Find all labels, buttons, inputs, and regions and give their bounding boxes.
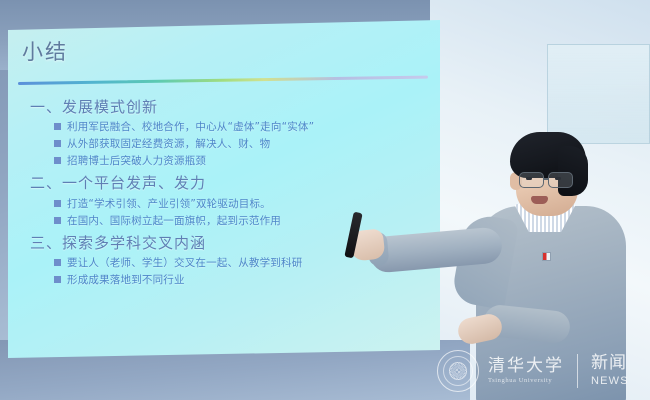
university-name-cn: 清华大学 [488,358,564,375]
square-bullet-icon [54,157,61,164]
bullet-item: 招聘博士后突破人力资源瓶颈 [54,153,440,170]
section-bullets: 利用军民融合、校地合作，中心从“虚体”走向“实体” 从外部获取固定经费资源，解决… [8,119,440,170]
bullet-item: 形成成果落地到不同行业 [54,272,440,289]
bullet-text: 要让人（老师、学生）交叉在一起、从教学到科研 [67,255,302,272]
watermark-divider [577,354,578,388]
section-heading: 一、发展模式创新 [8,96,440,119]
square-bullet-icon [54,123,61,130]
square-bullet-icon [54,276,61,283]
university-name-en: Tsinghua University [488,378,564,385]
slide-divider-rule [18,76,428,85]
tsinghua-seal-icon [437,350,479,392]
bullet-item: 从外部获取固定经费资源，解决人、财、物 [54,136,440,153]
square-bullet-icon [54,140,61,147]
glasses-lens-left [519,172,544,188]
bullet-text: 招聘博士后突破人力资源瓶颈 [67,153,206,170]
news-label-en: NEWS [591,376,629,387]
presenter-mouth [531,196,548,204]
presenter-hair-side [558,146,588,196]
university-wordmark: 清华大学 Tsinghua University [488,358,564,385]
bullet-text: 利用军民融合、校地合作，中心从“虚体”走向“实体” [67,119,314,136]
square-bullet-icon [54,217,61,224]
slide-section: 二、一个平台发声、发力 打造“学术引领、产业引领”双轮驱动目标。 在国内、国际树… [8,172,440,229]
section-heading: 二、一个平台发声、发力 [8,172,440,195]
projection-screen: 小结 一、发展模式创新 利用军民融合、校地合作，中心从“虚体”走向“实体” 从外… [8,20,440,358]
bullet-item: 打造“学术引领、产业引领”双轮驱动目标。 [54,196,440,213]
slide-title: 小结 [22,36,68,66]
sweater-brand-patch [542,252,551,261]
square-bullet-icon [54,200,61,207]
slide-surface: 小结 一、发展模式创新 利用军民融合、校地合作，中心从“虚体”走向“实体” 从外… [8,20,440,358]
bullet-text: 形成成果落地到不同行业 [67,272,185,289]
bullet-text: 在国内、国际树立起一面旗帜，起到示范作用 [67,213,281,230]
news-wordmark: 新闻 NEWS [591,355,629,387]
news-label-cn: 新闻 [591,355,629,372]
bullet-item: 在国内、国际树立起一面旗帜，起到示范作用 [54,213,440,230]
presenter-eye-right [555,177,561,180]
watermark: 清华大学 Tsinghua University 新闻 NEWS [437,350,629,392]
bullet-text: 从外部获取固定经费资源，解决人、财、物 [67,136,270,153]
glasses-lens-right [548,172,573,188]
bullet-item: 利用军民融合、校地合作，中心从“虚体”走向“实体” [54,119,440,136]
section-bullets: 打造“学术引领、产业引领”双轮驱动目标。 在国内、国际树立起一面旗帜，起到示范作… [8,196,440,230]
bullet-text: 打造“学术引领、产业引领”双轮驱动目标。 [67,196,271,213]
glasses-bridge [544,178,549,180]
photograph: 小结 一、发展模式创新 利用军民融合、校地合作，中心从“虚体”走向“实体” 从外… [0,0,650,400]
slide-section: 一、发展模式创新 利用军民融合、校地合作，中心从“虚体”走向“实体” 从外部获取… [8,96,440,170]
square-bullet-icon [54,259,61,266]
presenter-eye-left [526,177,532,180]
